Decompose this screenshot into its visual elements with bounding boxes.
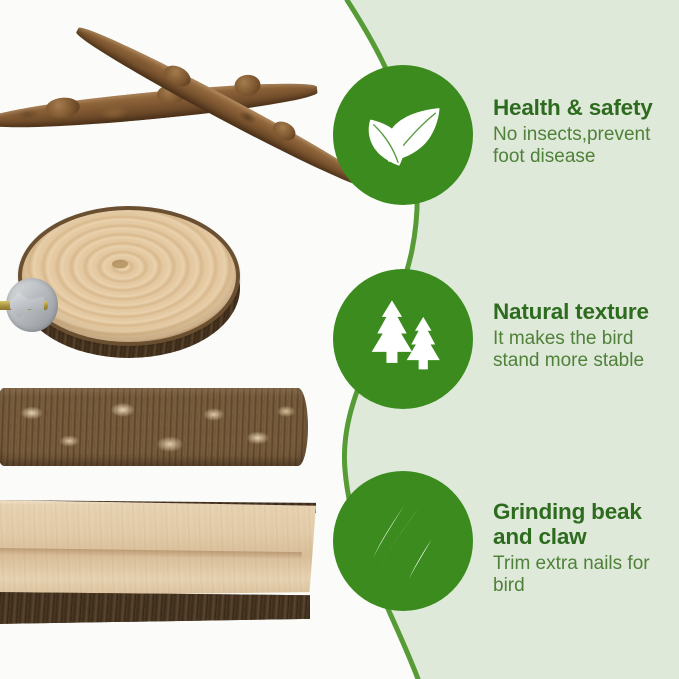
feature-description: It makes the bird stand more stable (493, 328, 679, 372)
feature-text-grinding-beak-claw: Grinding beak and claw Trim extra nails … (493, 500, 679, 597)
feature-description: Trim extra nails for bird (493, 553, 679, 597)
branch-knot (234, 74, 262, 97)
product-bark-log-perch (0, 388, 308, 466)
pine-trees-icon (357, 293, 449, 385)
feature-description: No insects,prevent foot disease (493, 124, 679, 168)
disc-core (112, 260, 128, 269)
product-feature-infographic: Health & safety No insects,prevent foot … (0, 0, 679, 679)
feature-text-natural-texture: Natural texture It makes the bird stand … (493, 300, 679, 372)
product-wood-slice-disc-perch (4, 196, 254, 364)
product-flat-plank-perch (0, 500, 316, 624)
feature-icon-circle-grinding-beak-claw (333, 471, 473, 611)
leaf-icon (355, 87, 451, 183)
branch-knot (161, 61, 194, 90)
product-photo-column (0, 0, 345, 679)
disc-tree-rings (18, 206, 240, 346)
branch-knot (270, 118, 299, 144)
feature-title: Health & safety (493, 96, 679, 121)
claw-marks-icon (355, 493, 451, 589)
feature-title: Natural texture (493, 300, 679, 325)
branch-knot (45, 96, 81, 119)
feature-icon-circle-natural-texture (333, 269, 473, 409)
plank-bark-bottom-edge (0, 592, 310, 624)
feature-title: Grinding beak and claw (493, 500, 679, 550)
feature-icon-circle-health-safety (333, 65, 473, 205)
feature-text-health-safety: Health & safety No insects,prevent foot … (493, 96, 679, 168)
